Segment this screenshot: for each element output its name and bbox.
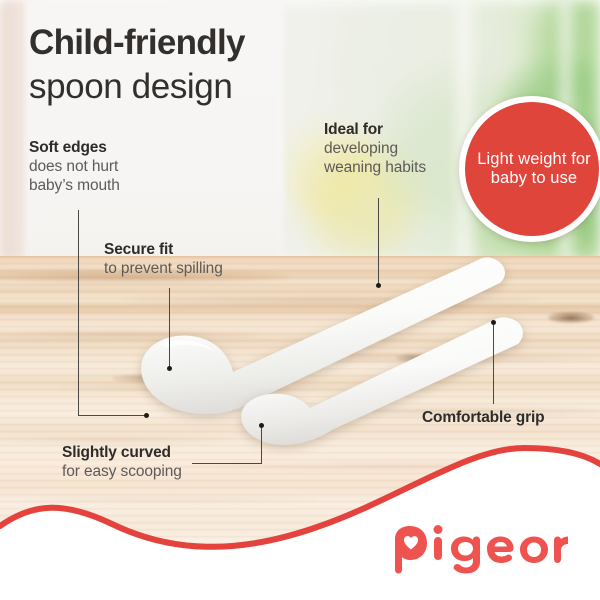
callout-ideal-for-sub-2: weaning habits xyxy=(324,158,426,177)
callout-slightly-curved-sub-1: for easy scooping xyxy=(62,462,182,481)
badge-label: Light weight for baby to use xyxy=(465,150,599,189)
leader-dot-secure-fit xyxy=(167,366,172,371)
product-infographic: Light weight for baby to use Child-frien… xyxy=(0,0,600,600)
callout-ideal-for: Ideal for developing weaning habits xyxy=(324,120,426,177)
callout-soft-edges: Soft edges does not hurt baby’s mouth xyxy=(29,138,120,195)
callout-ideal-for-title: Ideal for xyxy=(324,120,426,139)
title-line-2: spoon design xyxy=(29,66,329,108)
callout-comfortable-grip: Comfortable grip xyxy=(422,408,544,427)
callout-secure-fit-title: Secure fit xyxy=(104,240,223,259)
leader-slightly-curved-horizontal xyxy=(192,463,262,464)
callout-secure-fit-sub-1: to prevent spilling xyxy=(104,259,223,278)
leader-secure-fit-vertical xyxy=(169,288,170,368)
leader-soft-edges-vertical xyxy=(78,210,79,416)
leader-ideal-for-vertical xyxy=(378,198,379,285)
callout-slightly-curved-title: Slightly curved xyxy=(62,443,182,462)
pigeon-logo xyxy=(392,524,568,574)
callout-soft-edges-sub-1: does not hurt xyxy=(29,157,120,176)
leader-dot-slightly-curved xyxy=(259,423,264,428)
light-weight-badge: Light weight for baby to use xyxy=(459,96,600,242)
leader-dot-ideal-for xyxy=(376,283,381,288)
leader-dot-comfortable-grip xyxy=(491,320,496,325)
callout-soft-edges-title: Soft edges xyxy=(29,138,120,157)
title-line-1: Child-friendly xyxy=(29,22,329,64)
callout-slightly-curved: Slightly curved for easy scooping xyxy=(62,443,182,481)
page-title: Child-friendly spoon design xyxy=(29,22,329,108)
leader-slightly-curved-vertical xyxy=(261,427,262,464)
callout-secure-fit: Secure fit to prevent spilling xyxy=(104,240,223,278)
leader-soft-edges-horizontal xyxy=(78,415,146,416)
badge-circle: Light weight for baby to use xyxy=(465,102,599,236)
leader-dot-soft-edges xyxy=(144,413,149,418)
leader-comfortable-grip-vertical xyxy=(493,324,494,404)
callout-ideal-for-sub-1: developing xyxy=(324,139,426,158)
callout-comfortable-grip-title: Comfortable grip xyxy=(422,408,544,427)
callout-soft-edges-sub-2: baby’s mouth xyxy=(29,176,120,195)
